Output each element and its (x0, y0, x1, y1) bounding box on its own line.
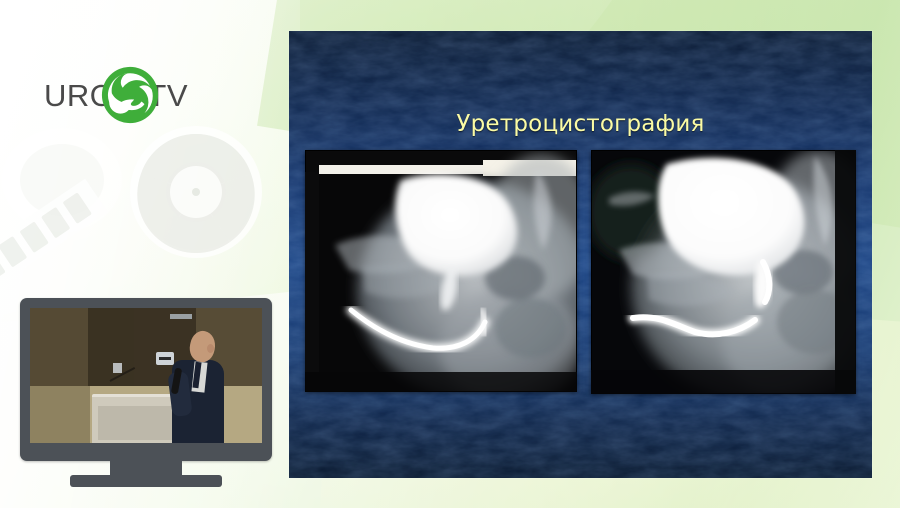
presentation-slide[interactable]: Уретроцистография (289, 31, 872, 478)
video-player-monitor[interactable] (20, 298, 272, 487)
ceiling-light-icon (170, 314, 192, 319)
presenter-ear (207, 344, 214, 353)
monitor-stand-neck (110, 461, 182, 475)
monitor-stand-base (70, 475, 222, 487)
lectern-front (98, 406, 174, 440)
xray-urethrocystography-right[interactable] (591, 150, 856, 394)
scene-wall-panel (88, 308, 134, 386)
xray-urethrocystography-left[interactable] (305, 150, 577, 392)
video-thumbnail[interactable] (30, 308, 262, 443)
wall-plate-icon (113, 363, 122, 373)
brand-logo[interactable]: URO TV (44, 64, 188, 126)
slide-title: Уретроцистография (289, 111, 872, 137)
wall-sign-icon (156, 352, 174, 365)
monitor-bezel (20, 298, 272, 461)
scene-wall-lower-shadow (30, 386, 90, 443)
uro-tv-swirl-icon (101, 66, 159, 124)
screenshot-root: URO TV (0, 0, 900, 508)
slide-image-row (289, 31, 872, 478)
